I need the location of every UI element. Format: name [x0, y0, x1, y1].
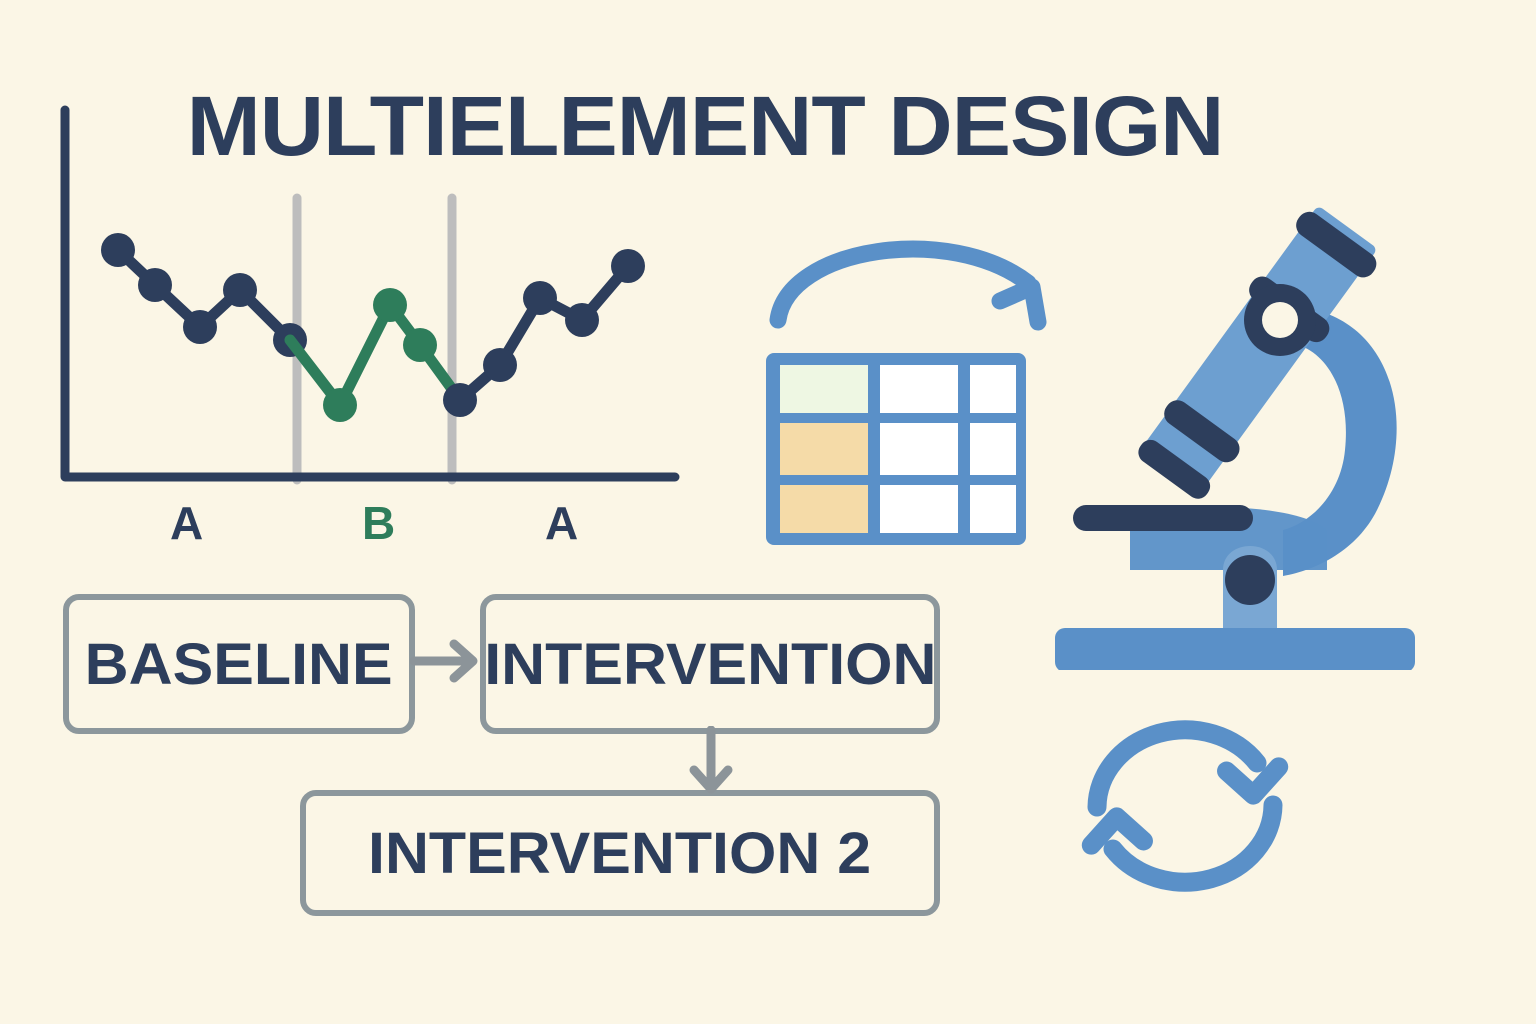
table-grid: [766, 353, 1026, 545]
arrow-down-icon: [682, 726, 740, 798]
microscope-focus-knob-hole: [1262, 302, 1298, 338]
microscope-base: [1055, 628, 1415, 670]
data-point: [565, 303, 599, 337]
microscope-icon[interactable]: [1045, 130, 1445, 670]
microscope-stage: [1073, 505, 1253, 531]
data-point: [611, 249, 645, 283]
curved-arrow-right-icon: [778, 249, 1038, 322]
data-point: [183, 310, 217, 344]
table-cell-r2c3: [970, 423, 1016, 475]
data-point: [403, 328, 437, 362]
series-b-intervention: [290, 288, 460, 422]
phase-label-a2: A: [545, 500, 578, 546]
data-point: [323, 388, 357, 422]
refresh-cycle-icon[interactable]: [1075, 705, 1295, 905]
ab-design-chart: [40, 90, 720, 560]
flow-box-baseline[interactable]: BASELINE: [63, 594, 415, 734]
data-point: [483, 348, 517, 382]
table-cell-r3c3: [970, 485, 1016, 533]
data-point: [523, 281, 557, 315]
microscope-adjustment-knob: [1225, 555, 1275, 605]
data-point: [443, 383, 477, 417]
table-cell-r3c1: [780, 485, 868, 533]
phase-label-a1: A: [170, 500, 203, 546]
table-cell-r1c1: [780, 365, 868, 413]
phase-label-b: B: [362, 500, 395, 546]
flow-box-intervention[interactable]: INTERVENTION: [480, 594, 940, 734]
table-cell-r2c2: [880, 423, 958, 475]
data-point: [101, 233, 135, 267]
series-a-baseline: [101, 233, 307, 357]
series-b-line: [290, 305, 460, 405]
flow-box-intervention-2[interactable]: INTERVENTION 2: [300, 790, 940, 916]
flow-box-intervention-2-label: INTERVENTION 2: [368, 820, 871, 887]
table-cell-r3c2: [880, 485, 958, 533]
data-table-icon[interactable]: [760, 225, 1060, 555]
flow-box-intervention-label: INTERVENTION: [484, 631, 936, 698]
infographic-canvas: MULTIELEMENT DESIGN: [0, 0, 1536, 1024]
table-cell-r2c1: [780, 423, 868, 475]
data-point: [223, 273, 257, 307]
series-a-return: [443, 249, 645, 417]
chart-svg: [40, 90, 720, 560]
table-cell-r1c2: [880, 365, 958, 413]
table-cell-r1c3: [970, 365, 1016, 413]
data-point: [138, 268, 172, 302]
arrow-right-icon: [410, 632, 490, 690]
flow-box-baseline-label: BASELINE: [85, 631, 393, 698]
data-point: [373, 288, 407, 322]
